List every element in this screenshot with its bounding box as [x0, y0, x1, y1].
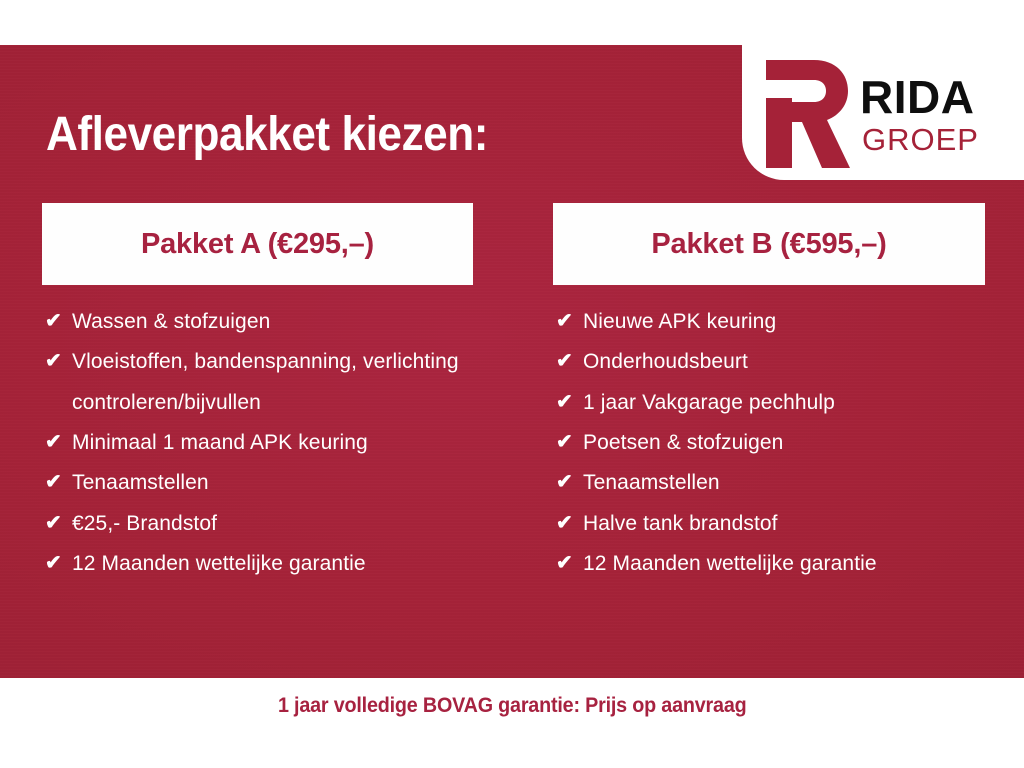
package-b-title: Pakket B (€595,–): [651, 228, 886, 261]
list-item-label: Minimaal 1 maand APK keuring: [72, 423, 473, 463]
list-item-label: Tenaamstellen: [72, 463, 473, 503]
package-a-feature-list: ✔ Wassen & stofzuigen ✔ Vloeistoffen, ba…: [42, 285, 473, 584]
list-item-label: Nieuwe APK keuring: [583, 302, 985, 342]
package-b-header: Pakket B (€595,–): [553, 203, 985, 285]
list-item-label: Onderhoudsbeurt: [583, 342, 985, 382]
package-b-feature-list: ✔ Nieuwe APK keuring ✔ Onderhoudsbeurt ✔…: [553, 285, 985, 584]
slide-root: Afleverpakket kiezen: RIDA GROEP Pakket …: [0, 0, 1024, 768]
checkmark-icon: ✔: [42, 302, 72, 340]
brand-logo-panel: RIDA GROEP: [742, 45, 1024, 180]
list-item-label: 12 Maanden wettelijke garantie: [583, 544, 985, 584]
list-item-label: Halve tank brandstof: [583, 504, 985, 544]
checkmark-icon: ✔: [42, 504, 72, 542]
list-item-label: 12 Maanden wettelijke garantie: [72, 544, 473, 584]
checkmark-icon: ✔: [42, 342, 72, 380]
list-item: ✔ Wassen & stofzuigen: [42, 302, 473, 342]
checkmark-icon: ✔: [42, 463, 72, 501]
list-item: ✔ Tenaamstellen: [42, 463, 473, 503]
list-item-label: Vloeistoffen, bandenspanning, verlichtin…: [72, 342, 473, 423]
list-item-label: 1 jaar Vakgarage pechhulp: [583, 383, 985, 423]
brand-logo-wordmark: RIDA GROEP: [860, 74, 979, 155]
list-item-label: Poetsen & stofzuigen: [583, 423, 985, 463]
footer-bar: 1 jaar volledige BOVAG garantie: Prijs o…: [0, 678, 1024, 768]
checkmark-icon: ✔: [553, 383, 583, 421]
list-item: ✔ Minimaal 1 maand APK keuring: [42, 423, 473, 463]
list-item-label: Tenaamstellen: [583, 463, 985, 503]
brand-name-secondary: GROEP: [862, 124, 979, 155]
list-item: ✔ Vloeistoffen, bandenspanning, verlicht…: [42, 342, 473, 423]
checkmark-icon: ✔: [553, 463, 583, 501]
footer-note: 1 jaar volledige BOVAG garantie: Prijs o…: [278, 694, 747, 718]
list-item: ✔ Halve tank brandstof: [553, 504, 985, 544]
brand-name-primary: RIDA: [860, 74, 979, 120]
list-item: ✔ 1 jaar Vakgarage pechhulp: [553, 383, 985, 423]
package-a-title: Pakket A (€295,–): [141, 228, 374, 261]
list-item: ✔ Onderhoudsbeurt: [553, 342, 985, 382]
list-item: ✔ Tenaamstellen: [553, 463, 985, 503]
list-item-label: €25,- Brandstof: [72, 504, 473, 544]
list-item: ✔ Poetsen & stofzuigen: [553, 423, 985, 463]
checkmark-icon: ✔: [42, 544, 72, 582]
package-a-header: Pakket A (€295,–): [42, 203, 473, 285]
list-item-label: Wassen & stofzuigen: [72, 302, 473, 342]
checkmark-icon: ✔: [553, 504, 583, 542]
list-item: ✔ €25,- Brandstof: [42, 504, 473, 544]
list-item: ✔ Nieuwe APK keuring: [553, 302, 985, 342]
list-item: ✔ 12 Maanden wettelijke garantie: [42, 544, 473, 584]
rida-r-monogram-icon: [756, 58, 852, 170]
list-item: ✔ 12 Maanden wettelijke garantie: [553, 544, 985, 584]
checkmark-icon: ✔: [42, 423, 72, 461]
checkmark-icon: ✔: [553, 423, 583, 461]
page-title: Afleverpakket kiezen:: [46, 110, 488, 160]
checkmark-icon: ✔: [553, 342, 583, 380]
checkmark-icon: ✔: [553, 302, 583, 340]
package-column-a: Pakket A (€295,–) ✔ Wassen & stofzuigen …: [42, 203, 473, 584]
package-column-b: Pakket B (€595,–) ✔ Nieuwe APK keuring ✔…: [553, 203, 985, 584]
checkmark-icon: ✔: [553, 544, 583, 582]
